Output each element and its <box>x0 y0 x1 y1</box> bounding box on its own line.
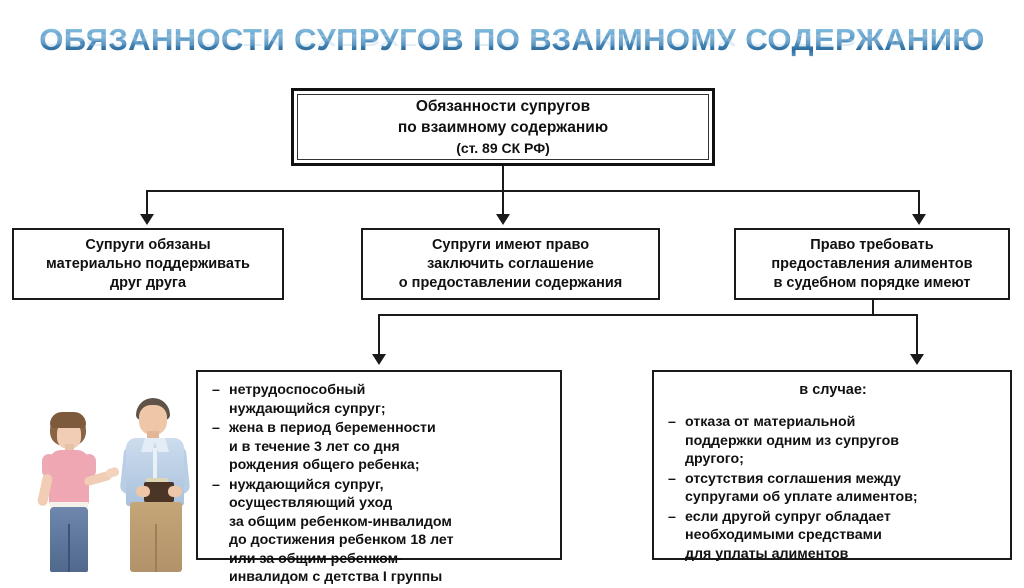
list-item: – если другой супруг обладает необходимы… <box>668 508 998 564</box>
list-item: – отказа от материальной поддержки одним… <box>668 413 998 469</box>
list-item-line: нуждающийся супруг, <box>229 476 550 495</box>
box-mutual-support-line-1: Супруги обязаны <box>14 236 282 255</box>
connector-court-bus <box>378 314 918 316</box>
box-agreement-line-1: Супруги имеют право <box>363 236 658 255</box>
connector-drop-entitled <box>378 314 380 356</box>
woman-jeans-seam <box>68 524 70 572</box>
man-pants-seam <box>155 524 157 572</box>
list-item: – нуждающийся супруг, осуществляющий ухо… <box>212 476 550 587</box>
list-item-line: до достижения ребенком 18 лет <box>229 531 550 550</box>
list-item-line: отказа от материальной <box>685 413 998 432</box>
bullet-dash: – <box>668 470 676 489</box>
box-court-cases: в случае: – отказа от материальной подде… <box>652 370 1012 560</box>
connector-drop-support <box>146 190 148 216</box>
box-mutual-support: Супруги обязаны материально поддерживать… <box>12 228 284 300</box>
cases-heading: в случае: <box>668 381 998 400</box>
box-court-claim-line-3: в судебном порядке имеют <box>736 274 1008 293</box>
list-item-line: необходимыми средствами <box>685 526 998 545</box>
arrow-to-support <box>140 214 154 225</box>
title-banner: ОБЯЗАННОСТИ СУПРУГОВ ПО ВЗАИМНОМУ СОДЕРЖ… <box>0 22 1024 80</box>
entitled-list: – нетрудоспособный нуждающийся супруг; –… <box>212 381 550 588</box>
connector-drop-cases <box>916 314 918 356</box>
list-item-line: осуществляющий уход <box>229 494 550 513</box>
connector-root-stem <box>502 166 504 192</box>
list-item: – отсутствия соглашения между супругами … <box>668 470 998 507</box>
list-item-line: и в течение 3 лет со дня <box>229 438 550 457</box>
man-hand-left <box>136 486 150 497</box>
woman-figure <box>32 412 108 572</box>
arrow-to-agreement <box>496 214 510 225</box>
list-item-line: нетрудоспособный <box>229 381 550 400</box>
man-figure <box>114 398 198 572</box>
box-entitled-persons: – нетрудоспособный нуждающийся супруг; –… <box>196 370 562 560</box>
page-title-reflection: ОБЯЗАННОСТИ СУПРУГОВ ПО ВЗАИМНОМУ СОДЕРЖ… <box>0 30 1024 50</box>
root-box-inner: Обязанности супругов по взаимному содерж… <box>297 94 709 160</box>
list-item: – нетрудоспособный нуждающийся супруг; <box>212 381 550 418</box>
box-court-claim-line-2: предоставления алиментов <box>736 255 1008 274</box>
list-item-line: рождения общего ребенка; <box>229 456 550 475</box>
list-item-line: поддержки одним из супругов <box>685 432 998 451</box>
list-item-line: супругами об уплате алиментов; <box>685 488 998 507</box>
bullet-dash: – <box>212 419 220 438</box>
bullet-dash: – <box>212 381 220 400</box>
box-court-claim: Право требовать предоставления алиментов… <box>734 228 1010 300</box>
list-item-line: нуждающийся супруг; <box>229 400 550 419</box>
bullet-dash: – <box>212 476 220 495</box>
list-item-line: жена в период беременности <box>229 419 550 438</box>
root-box: Обязанности супругов по взаимному содерж… <box>291 88 715 166</box>
couple-photo <box>10 392 198 572</box>
cases-list: – отказа от материальной поддержки одним… <box>668 413 998 564</box>
bullet-dash: – <box>668 413 676 432</box>
list-item-line: или за общим ребенком- <box>229 550 550 569</box>
arrow-to-entitled <box>372 354 386 365</box>
list-item: – жена в период беременности и в течение… <box>212 419 550 475</box>
woman-shirt <box>49 450 89 506</box>
list-item-line: для уплаты алиментов <box>685 545 998 564</box>
box-agreement: Супруги имеют право заключить соглашение… <box>361 228 660 300</box>
box-mutual-support-line-2: материально поддерживать <box>14 255 282 274</box>
list-item-line: инвалидом с детства I группы <box>229 568 550 587</box>
box-agreement-line-2: заключить соглашение <box>363 255 658 274</box>
arrow-to-cases <box>910 354 924 365</box>
list-item-line: если другой супруг обладает <box>685 508 998 527</box>
connector-drop-agreement <box>502 190 504 216</box>
box-court-claim-line-1: Право требовать <box>736 236 1008 255</box>
list-item-line: другого; <box>685 450 998 469</box>
woman-fringe <box>50 412 86 428</box>
bullet-dash: – <box>668 508 676 527</box>
list-item-line: за общим ребенком-инвалидом <box>229 513 550 532</box>
root-box-line-1: Обязанности супругов <box>298 96 708 117</box>
box-mutual-support-line-3: друг друга <box>14 274 282 293</box>
list-item-line: отсутствия соглашения между <box>685 470 998 489</box>
connector-drop-court <box>918 190 920 216</box>
box-agreement-line-3: о предоставлении содержания <box>363 274 658 293</box>
root-box-line-3: (ст. 89 СК РФ) <box>298 138 708 159</box>
man-hand-right <box>168 486 182 497</box>
root-box-line-2: по взаимному содержанию <box>298 117 708 138</box>
arrow-to-court <box>912 214 926 225</box>
connector-root-bus <box>146 190 920 192</box>
